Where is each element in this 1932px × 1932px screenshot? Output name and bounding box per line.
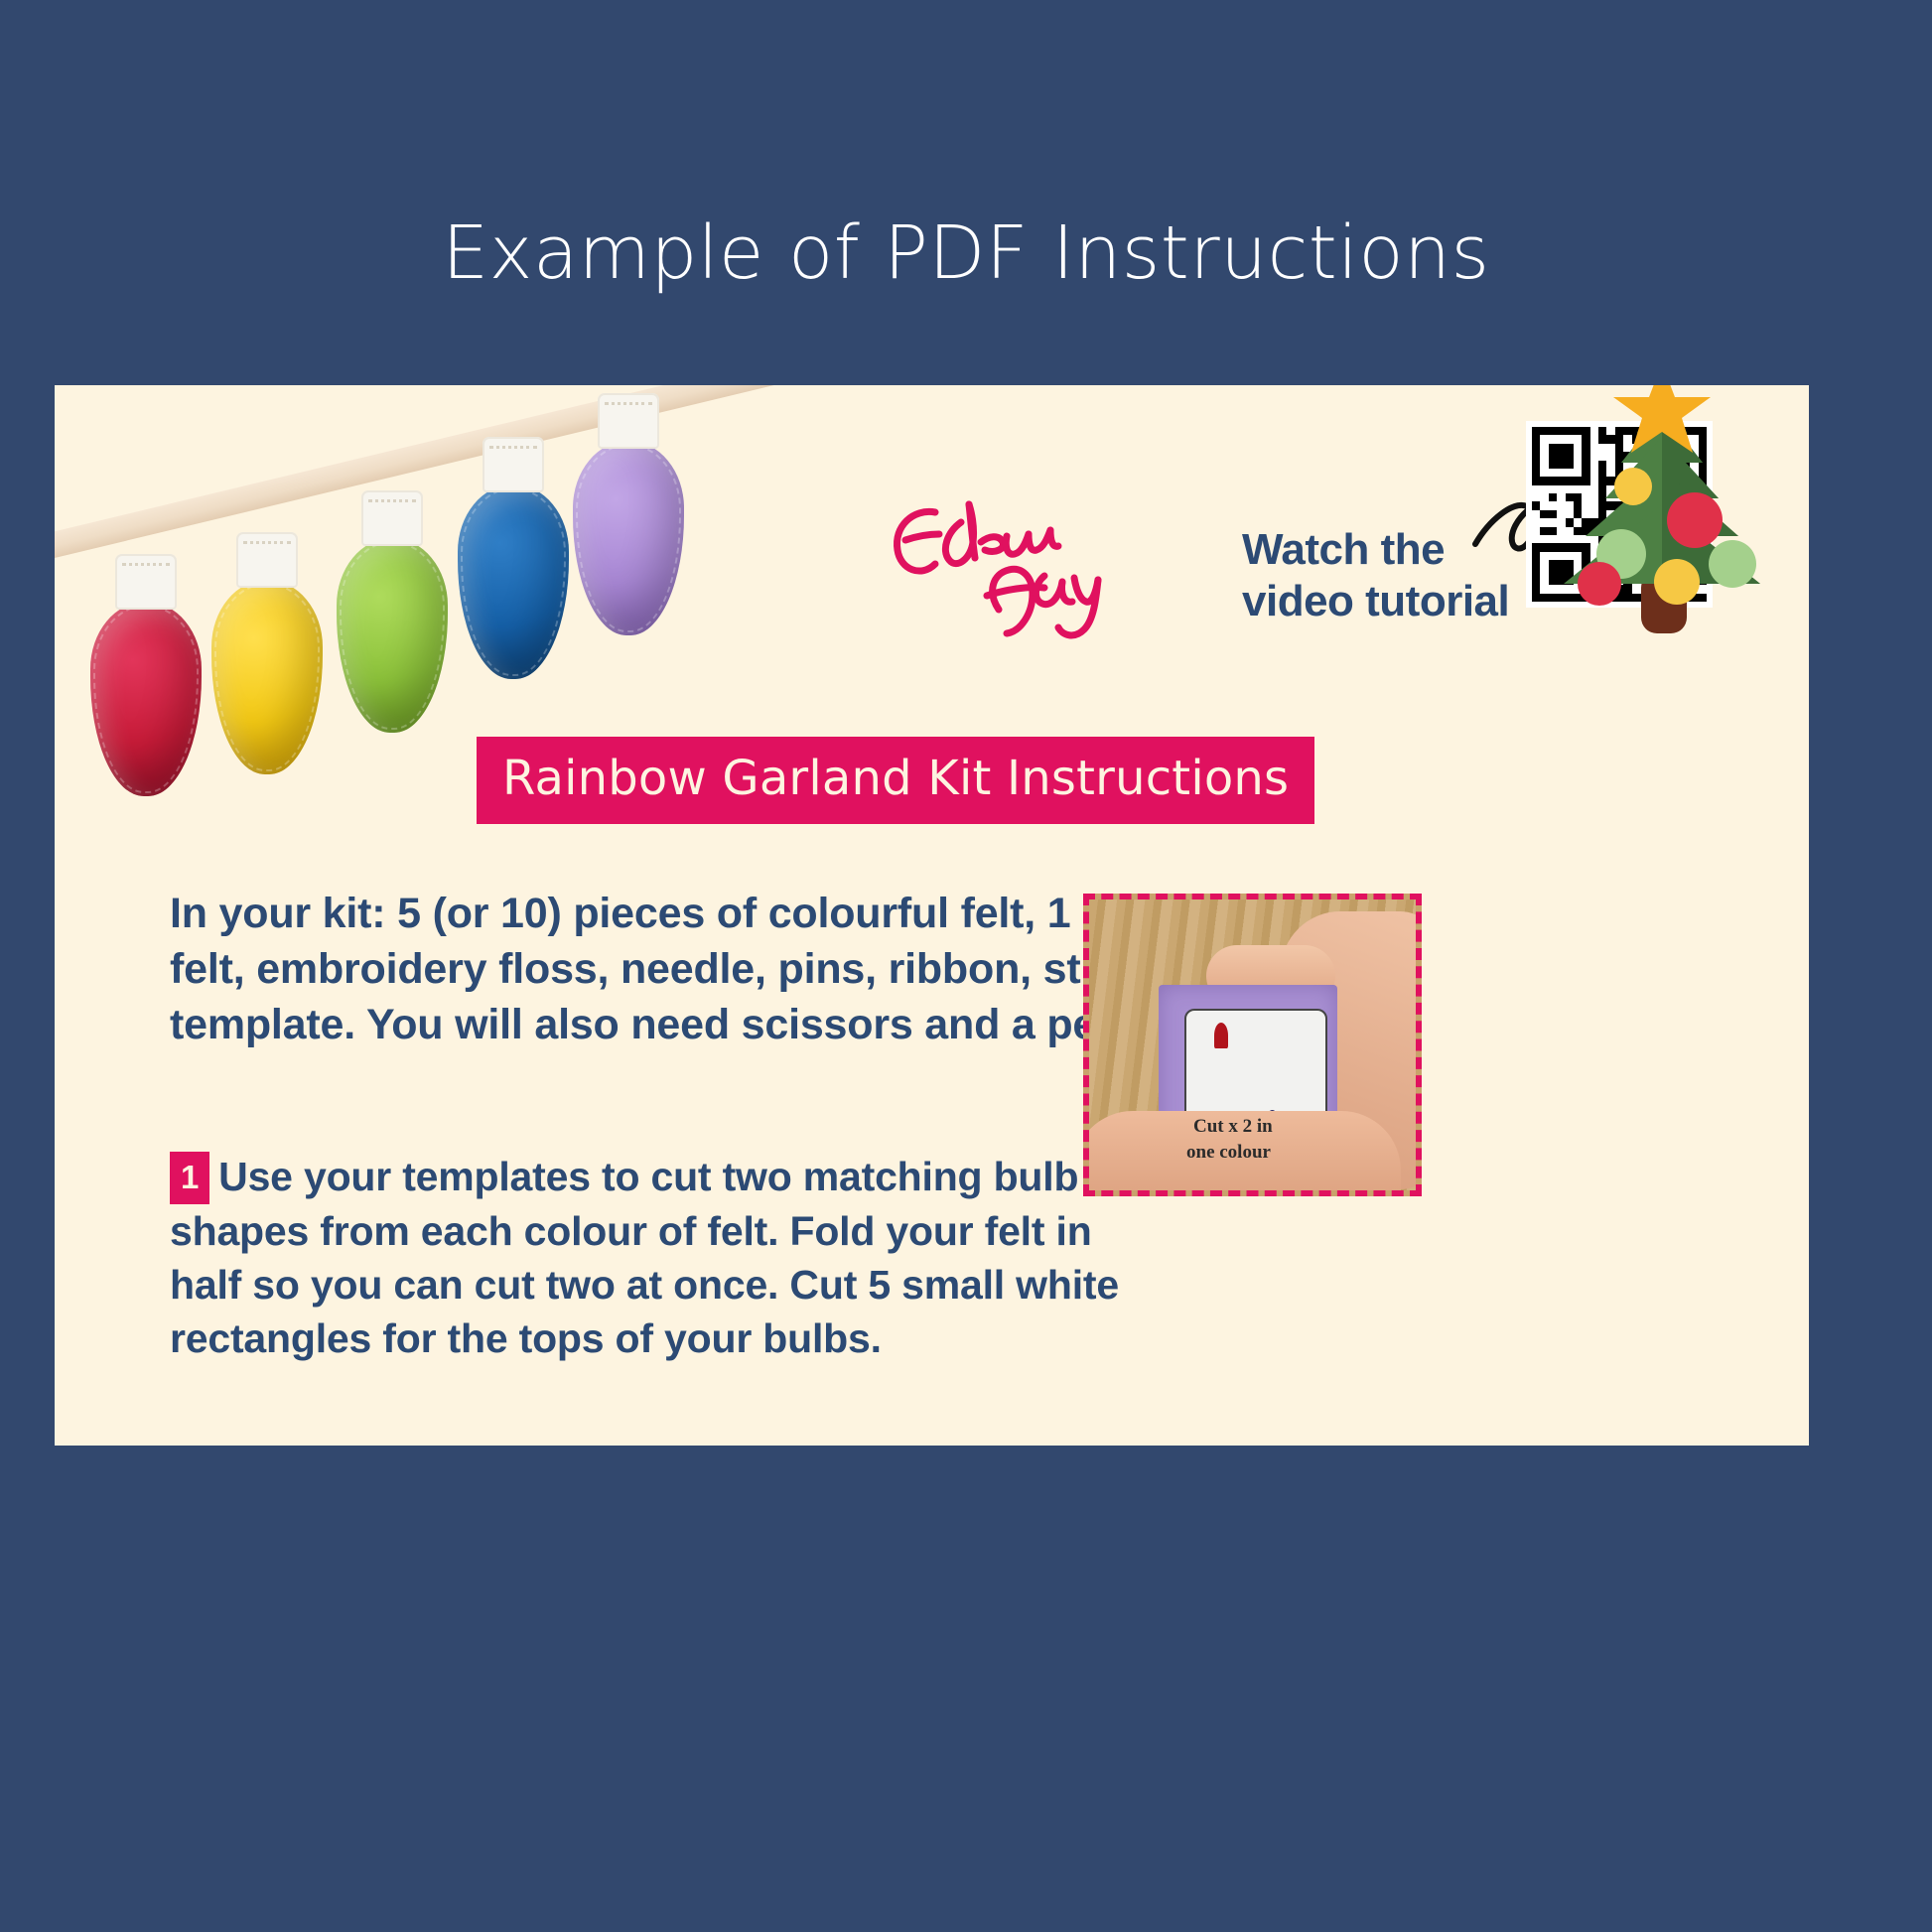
eden-fay-logo bbox=[884, 492, 1122, 641]
step-number-badge: 1 bbox=[170, 1152, 209, 1204]
bulb-glass bbox=[90, 602, 202, 796]
page-title: Example of PDF Instructions bbox=[0, 216, 1932, 290]
template-caption-line-1: Cut x 2 in bbox=[1193, 1116, 1273, 1138]
bulb-glass bbox=[211, 580, 323, 774]
bulb-glass bbox=[337, 538, 448, 733]
template-caption-line-2: one colour bbox=[1186, 1142, 1271, 1164]
bulb-cap-icon bbox=[115, 554, 177, 610]
bulb-cap-icon bbox=[483, 437, 544, 492]
template-pinned-to-felt-photo: Cut x 2 in one colour bbox=[1083, 894, 1422, 1196]
bulb-yellow bbox=[211, 544, 323, 802]
bulb-purple bbox=[573, 437, 684, 695]
bulb-cap-icon bbox=[236, 532, 298, 588]
kit-instructions-banner: Rainbow Garland Kit Instructions bbox=[477, 737, 1314, 824]
step-1-block: 1Use your templates to cut two matching … bbox=[170, 1150, 1173, 1365]
pdf-instruction-card: Watch the video tutorial bbox=[55, 385, 1809, 1446]
bulb-blue bbox=[458, 471, 569, 729]
red-pin-icon bbox=[1214, 1023, 1228, 1048]
bulb-cap-icon bbox=[598, 393, 659, 449]
bulb-glass bbox=[573, 441, 684, 635]
bulb-green bbox=[337, 512, 448, 770]
video-tutorial-qr-block[interactable] bbox=[1514, 399, 1809, 697]
bulb-red bbox=[90, 554, 202, 812]
bulb-cap-icon bbox=[361, 490, 423, 546]
step-1-text: Use your templates to cut two matching b… bbox=[170, 1154, 1119, 1361]
christmas-tree-icon bbox=[1538, 385, 1786, 647]
bulb-glass bbox=[458, 484, 569, 679]
